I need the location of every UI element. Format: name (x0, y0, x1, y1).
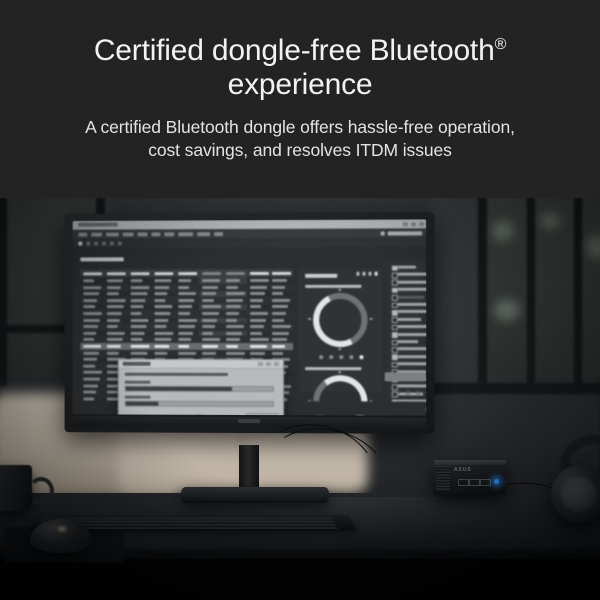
subheading-line-1: A certified Bluetooth dongle offers hass… (85, 117, 515, 137)
table-cell (226, 352, 245, 355)
headline-line-1: Certified dongle-free Bluetooth (94, 34, 495, 67)
table-cell (202, 292, 216, 295)
window-mullion (0, 197, 7, 387)
table-cell (131, 351, 148, 354)
table-cell (83, 319, 100, 322)
progress-one-label (125, 381, 151, 384)
checkbox-icon[interactable] (392, 317, 398, 323)
table-cell (250, 279, 269, 282)
headphone-earcup (561, 477, 597, 513)
table-cell (178, 299, 194, 302)
checklist-panel[interactable] (388, 261, 423, 398)
table-cell (202, 345, 218, 348)
window-mullion (478, 197, 487, 392)
mug-handle (28, 477, 54, 505)
table-cell (272, 312, 286, 315)
table-cell (107, 325, 118, 328)
table-cell (83, 391, 96, 394)
table-cell (272, 305, 288, 308)
table-cell (202, 305, 221, 308)
table-cell (250, 345, 267, 348)
table-cell (83, 365, 95, 368)
registered-mark: ® (495, 36, 507, 53)
list-item-label (398, 273, 426, 276)
table-cell (202, 325, 215, 328)
table-cell (272, 325, 291, 328)
panel-action-icon[interactable] (368, 272, 372, 276)
table-cell (226, 345, 238, 348)
table-cell (250, 332, 262, 335)
table-cell (178, 352, 196, 355)
foliage (540, 213, 560, 229)
table-cell (250, 319, 266, 322)
table-cell (83, 292, 99, 295)
table-cell (107, 305, 124, 308)
table-cell (131, 319, 149, 322)
table-cell (202, 312, 219, 315)
table-cell (178, 332, 193, 335)
table-cell (202, 352, 216, 355)
foliage (494, 299, 520, 321)
menu-item[interactable] (214, 232, 223, 236)
menu-item[interactable] (91, 233, 102, 237)
table-cell (272, 345, 285, 348)
mouse[interactable] (30, 519, 92, 553)
column-header[interactable] (83, 272, 102, 276)
table-cell (131, 345, 150, 348)
headline-line-2: experience (228, 68, 373, 101)
table-cell (83, 306, 95, 309)
checkbox-icon[interactable] (392, 384, 398, 390)
menu-item[interactable] (164, 232, 174, 236)
menu-item[interactable] (178, 232, 193, 236)
checkbox-icon[interactable] (392, 302, 398, 308)
power-led-icon (494, 479, 499, 484)
modal-dialog[interactable] (118, 359, 284, 416)
table-cell (154, 279, 171, 282)
menu-item[interactable] (197, 232, 210, 236)
table-cell (83, 338, 94, 341)
table-cell (154, 305, 172, 308)
window-mullion (527, 197, 535, 392)
account-label[interactable] (388, 231, 422, 235)
list-item-label (398, 280, 426, 283)
section-heading (80, 257, 123, 261)
gauge-one-step[interactable] (329, 355, 333, 359)
table-cell (178, 292, 196, 295)
list-item-label (398, 362, 426, 365)
table-cell (107, 312, 122, 315)
toolbar-icon[interactable] (94, 242, 98, 246)
mini-pc-vent (436, 466, 450, 490)
table-cell (107, 279, 123, 282)
table-cell (107, 332, 125, 335)
table-cell (83, 345, 101, 348)
table-cell (131, 299, 146, 302)
table-cell (83, 378, 100, 381)
subheading: A certified Bluetooth dongle offers hass… (20, 116, 580, 162)
progress-two-label (125, 396, 151, 399)
checkbox-icon[interactable] (392, 340, 398, 346)
pager-dot[interactable] (396, 391, 400, 395)
table-cell (226, 299, 243, 302)
table-cell (107, 299, 126, 302)
table-cell (154, 332, 173, 335)
table-cell (83, 312, 102, 315)
table-cell (226, 305, 241, 308)
table-cell (154, 325, 166, 328)
checkbox-icon[interactable] (392, 273, 398, 279)
progress-bar-one-fill (126, 387, 232, 391)
table-cell (272, 332, 289, 335)
window-minimize-button[interactable] (403, 222, 408, 226)
list-item-label (398, 303, 426, 306)
column-header[interactable] (154, 272, 173, 276)
table-cell (107, 292, 119, 295)
subheading-line-2: cost savings, and resolves ITDM issues (148, 140, 452, 160)
window-maximize-button[interactable] (411, 222, 416, 226)
table-cell (202, 319, 217, 322)
table-cell (250, 338, 269, 341)
gauge-one-fill (306, 286, 375, 354)
table-cell (226, 292, 245, 295)
usb-port[interactable] (458, 479, 469, 486)
table-cell (250, 312, 268, 315)
table-cell (272, 292, 283, 295)
gauge-tick (338, 371, 341, 373)
application-body (72, 246, 426, 415)
table-cell (131, 279, 143, 282)
foliage (492, 221, 514, 241)
monitor-bezel (65, 212, 435, 434)
menu-item[interactable] (123, 232, 134, 236)
pager-dot[interactable] (416, 391, 420, 395)
usb-port[interactable] (469, 479, 480, 486)
window-pane-right (582, 197, 600, 377)
table-cell (131, 305, 144, 308)
header-band: Certified dongle-free Bluetooth® experie… (0, 0, 600, 198)
table-cell (226, 338, 240, 341)
table-cell (272, 279, 287, 282)
checkbox-icon[interactable] (392, 355, 398, 361)
mini-pc-top (434, 460, 506, 465)
table-cell (250, 292, 265, 295)
table-cell (272, 352, 283, 355)
column-header[interactable] (250, 271, 269, 275)
table-cell (83, 371, 102, 374)
checkbox-icon[interactable] (392, 280, 398, 286)
gauge-tick (308, 318, 311, 320)
table-cell (178, 319, 197, 322)
table-cell (202, 286, 218, 289)
checkbox-icon[interactable] (392, 362, 398, 368)
dialog-titlebar (119, 360, 283, 369)
table-cell (178, 279, 191, 282)
graph-panel-title (305, 274, 337, 278)
toolbar-icon[interactable] (110, 241, 114, 245)
table-cell (250, 352, 265, 355)
table-cell (272, 286, 285, 289)
gauge-tick (370, 318, 373, 320)
column-header[interactable] (107, 272, 126, 276)
table-cell (107, 384, 118, 387)
table-cell (131, 286, 150, 289)
table-cell (131, 292, 148, 295)
window-mullion (574, 197, 582, 392)
table-cell (226, 325, 244, 328)
list-item-label (398, 266, 416, 269)
table-cell (154, 319, 168, 322)
table-cell (154, 351, 167, 354)
window-title-text (78, 223, 117, 227)
gauge-two-label (305, 367, 361, 370)
table-cell (107, 319, 120, 322)
table-cell (250, 305, 261, 308)
table-cell (202, 338, 220, 341)
key[interactable] (42, 517, 334, 519)
dialog-message (125, 373, 228, 376)
dialog-close-button[interactable] (274, 362, 279, 366)
dialog-minimize-button[interactable] (258, 362, 263, 366)
table-cell (83, 279, 94, 282)
table-cell (107, 351, 119, 354)
table-cell (131, 312, 142, 315)
table-cell (178, 305, 192, 308)
checkbox-icon[interactable] (392, 288, 398, 294)
monitor-screen[interactable] (72, 219, 426, 415)
table-cell (154, 338, 171, 341)
table-cell (250, 286, 267, 289)
table-cell (226, 286, 238, 289)
list-item-label (398, 333, 426, 336)
table-cell (226, 319, 237, 322)
asus-logo: ASUS (454, 467, 472, 473)
table-cell (272, 319, 284, 322)
column-header[interactable] (178, 272, 197, 276)
gauge-one-step[interactable] (319, 355, 323, 359)
table-cell (178, 286, 189, 289)
progress-bar-one (125, 386, 274, 392)
usb-port[interactable] (480, 479, 491, 486)
page-title: Certified dongle-free Bluetooth® experie… (40, 34, 560, 102)
gauge-tick (338, 289, 341, 291)
panel-action-icon[interactable] (362, 272, 366, 276)
table-cell (154, 299, 165, 302)
list-item-label (398, 325, 426, 328)
table-cell (107, 345, 121, 348)
table-cell (83, 286, 101, 289)
header-text-block: Certified dongle-free Bluetooth® experie… (0, 34, 600, 162)
toolbar-icon[interactable] (118, 241, 122, 245)
table-cell (178, 338, 191, 341)
table-cell (178, 345, 189, 348)
gauge-one-label (305, 285, 361, 288)
table-cell (272, 338, 287, 341)
gauge-one-step-active[interactable] (359, 355, 363, 359)
table-cell (226, 332, 242, 335)
table-cell (83, 299, 97, 302)
table-cell (107, 286, 121, 289)
mini-pc: ASUS (434, 460, 506, 494)
list-item-label (398, 348, 426, 351)
table-cell (250, 299, 263, 302)
menu-item[interactable] (138, 232, 148, 236)
table-cell (202, 299, 214, 302)
list-item-label (398, 385, 426, 388)
dialog-confirm-button[interactable] (246, 413, 279, 416)
table-cell (154, 345, 169, 348)
list-item-label (398, 295, 424, 298)
account-icon[interactable] (381, 231, 385, 235)
checkbox-icon[interactable] (392, 325, 398, 331)
menu-item[interactable] (106, 233, 119, 237)
table-cell (131, 325, 147, 328)
toolbar-icon[interactable] (78, 242, 82, 246)
product-photo: ASUS (0, 197, 600, 600)
table-cell (131, 332, 145, 335)
marketing-banner: Certified dongle-free Bluetooth® experie… (0, 0, 600, 600)
table-cell (83, 351, 99, 354)
table-cell (154, 286, 169, 289)
gauge-one-step[interactable] (349, 355, 353, 359)
list-item-label (398, 310, 426, 313)
table-cell (272, 299, 290, 302)
toolbar-icon[interactable] (86, 242, 90, 246)
dialog-maximize-button[interactable] (266, 362, 271, 366)
checkbox-icon[interactable] (392, 265, 398, 271)
menu-item[interactable] (78, 233, 87, 237)
mouse-highlight (58, 527, 66, 531)
column-header[interactable] (272, 271, 291, 275)
progress-bar-two-fill (126, 402, 158, 406)
table-cell (202, 332, 213, 335)
pager-dot[interactable] (406, 391, 410, 395)
table-cell (83, 384, 98, 387)
dialog-title-text (123, 362, 151, 365)
table-cell (83, 332, 96, 335)
panel-settings-icon[interactable] (374, 272, 378, 276)
graph-calculator-panel[interactable] (299, 269, 382, 392)
application-window (72, 219, 426, 415)
window-sill (430, 383, 600, 394)
toolbar-icon[interactable] (102, 241, 106, 245)
column-header[interactable] (131, 272, 150, 276)
table-cell (131, 338, 143, 341)
checkbox-icon[interactable] (392, 332, 398, 338)
table-cell (154, 312, 170, 315)
table-cell (202, 279, 220, 282)
menu-item[interactable] (151, 232, 160, 236)
table-cell (226, 279, 240, 282)
gauge-tick (338, 348, 341, 350)
monitor-brand-logo (238, 419, 260, 423)
list-item-label (398, 355, 426, 358)
list-item-label (398, 318, 421, 321)
column-header[interactable] (226, 272, 245, 276)
desk-front (0, 559, 600, 600)
column-header[interactable] (202, 272, 221, 276)
table-cell (250, 325, 264, 328)
table-cell (178, 312, 190, 315)
progress-bar-two (125, 401, 274, 408)
table-cell (178, 325, 195, 328)
table-cell (83, 358, 97, 361)
checkbox-icon[interactable] (392, 310, 398, 316)
panel-action-icon[interactable] (356, 272, 360, 276)
table-cell (107, 338, 123, 341)
list-item-label (398, 340, 418, 343)
table-cell (83, 325, 98, 328)
gauge-one-step[interactable] (339, 355, 343, 359)
table-cell (154, 292, 167, 295)
primary-action-button[interactable] (385, 372, 419, 381)
checkbox-icon[interactable] (392, 347, 398, 353)
dialog-checkbox[interactable] (196, 415, 202, 416)
list-item-label (398, 288, 426, 291)
monitor (63, 213, 433, 433)
checkbox-icon[interactable] (392, 295, 398, 301)
window-close-button[interactable] (419, 222, 424, 226)
key[interactable] (41, 521, 336, 523)
table-cell (226, 312, 239, 315)
